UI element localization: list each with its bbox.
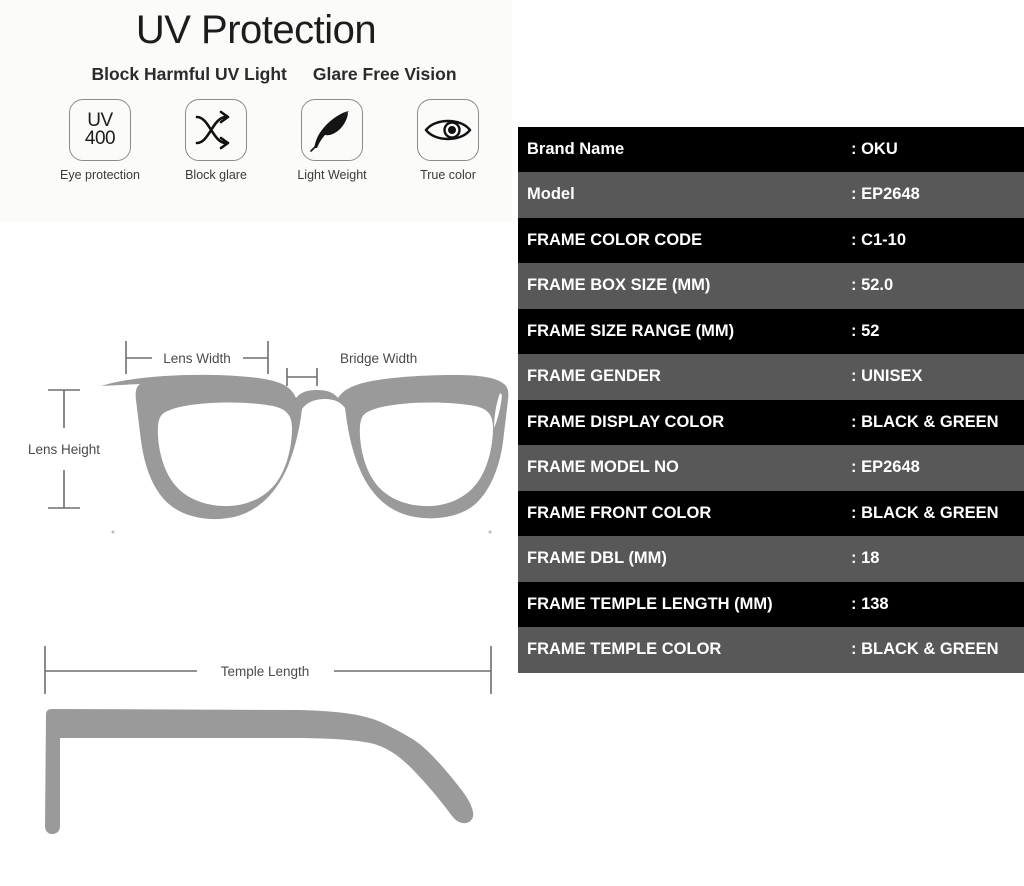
eye-icon <box>417 99 479 161</box>
spec-value: : 138 <box>851 582 1024 627</box>
spec-value-text: : OKU <box>851 140 1024 159</box>
spec-table-row: FRAME DBL (MM): 18 <box>518 536 1024 581</box>
spec-value-text: : 52.0 <box>851 276 1024 295</box>
spec-label: FRAME TEMPLE COLOR <box>518 627 851 672</box>
spec-label: FRAME GENDER <box>518 354 851 399</box>
spec-table-row: Model: EP2648 <box>518 172 1024 217</box>
spec-table-row: FRAME GENDER: UNISEX <box>518 354 1024 399</box>
eyeglass-frame-silhouette <box>101 375 508 519</box>
spec-value-text: : EP2648 <box>851 185 1024 204</box>
spec-label: FRAME SIZE RANGE (MM) <box>518 309 851 354</box>
spec-table-row: FRAME TEMPLE COLOR: BLACK & GREEN <box>518 627 1024 672</box>
uv-feature-label-eye-protection: Eye protection <box>60 168 140 182</box>
spec-value-text: : BLACK & GREEN <box>851 413 1024 432</box>
uv-subtitle-glare-free: Glare Free Vision <box>313 64 457 85</box>
uv400-icon-line2: 400 <box>85 130 115 148</box>
spec-value: : BLACK & GREEN <box>851 491 1024 536</box>
uv-subtitle-block-harmful: Block Harmful UV Light <box>91 64 286 85</box>
uv-feature-label-block-glare: Block glare <box>185 168 247 182</box>
spec-value-text: : BLACK & GREEN <box>851 640 1024 659</box>
lens-height-label: Lens Height <box>28 442 100 457</box>
uv-feature-label-light-weight: Light Weight <box>297 168 366 182</box>
product-illustration-panel: UV Protection Block Harmful UV Light Gla… <box>0 0 512 886</box>
block-glare-icon <box>185 99 247 161</box>
uv-subtitle-row: Block Harmful UV Light Glare Free Vision <box>0 64 512 85</box>
product-spec-table: Brand Name: OKUModel: EP2648FRAME COLOR … <box>518 127 1024 673</box>
spec-value: : 18 <box>851 536 1024 581</box>
spec-value: : 52 <box>851 309 1024 354</box>
crossing-arrows-glyph <box>193 110 239 150</box>
temple-length-label: Temple Length <box>221 664 310 679</box>
spec-value-text: : 52 <box>851 322 1024 341</box>
frame-temple-diagram: Temple Length <box>0 630 512 845</box>
spec-table-row: FRAME DISPLAY COLOR: BLACK & GREEN <box>518 400 1024 445</box>
spec-value: : EP2648 <box>851 172 1024 217</box>
spec-label: FRAME TEMPLE LENGTH (MM) <box>518 582 851 627</box>
spec-label: FRAME COLOR CODE <box>518 218 851 263</box>
spec-value-text: : EP2648 <box>851 458 1024 477</box>
spec-label: FRAME MODEL NO <box>518 445 851 490</box>
diagram-dot-right <box>489 531 492 534</box>
spec-table-body: Brand Name: OKUModel: EP2648FRAME COLOR … <box>518 127 1024 673</box>
temple-arm-silhouette <box>45 709 473 834</box>
bridge-width-label: Bridge Width <box>340 351 417 366</box>
uv-protection-block: UV Protection Block Harmful UV Light Gla… <box>0 0 512 222</box>
spec-value: : BLACK & GREEN <box>851 400 1024 445</box>
spec-table-row: FRAME TEMPLE LENGTH (MM): 138 <box>518 582 1024 627</box>
spec-value-text: : C1-10 <box>851 231 1024 250</box>
spec-table-row: FRAME COLOR CODE: C1-10 <box>518 218 1024 263</box>
eye-glyph <box>423 115 473 145</box>
spec-value: : 52.0 <box>851 263 1024 308</box>
uv-feature-block-glare: Block glare <box>175 99 257 182</box>
uv-feature-true-color: True color <box>407 99 489 182</box>
uv-protection-title: UV Protection <box>0 0 512 50</box>
spec-table-row: FRAME FRONT COLOR: BLACK & GREEN <box>518 491 1024 536</box>
spec-value: : UNISEX <box>851 354 1024 399</box>
feather-glyph <box>309 107 355 153</box>
diagram-dot-left <box>112 531 115 534</box>
spec-label: Model <box>518 172 851 217</box>
lens-width-label: Lens Width <box>163 351 231 366</box>
spec-value: : OKU <box>851 127 1024 172</box>
spec-label: FRAME BOX SIZE (MM) <box>518 263 851 308</box>
spec-value: : C1-10 <box>851 218 1024 263</box>
spec-value-text: : 18 <box>851 549 1024 568</box>
spec-value: : EP2648 <box>851 445 1024 490</box>
spec-value-text: : UNISEX <box>851 367 1024 386</box>
spec-table-row: FRAME SIZE RANGE (MM): 52 <box>518 309 1024 354</box>
spec-table-row: FRAME BOX SIZE (MM): 52.0 <box>518 263 1024 308</box>
spec-label: FRAME FRONT COLOR <box>518 491 851 536</box>
spec-table-row: Brand Name: OKU <box>518 127 1024 172</box>
uv-feature-label-true-color: True color <box>420 168 476 182</box>
feather-icon <box>301 99 363 161</box>
uv-feature-light-weight: Light Weight <box>291 99 373 182</box>
spec-label: Brand Name <box>518 127 851 172</box>
frame-front-diagram: Lens Width Bridge Width Lens Height <box>0 330 512 560</box>
spec-label: FRAME DBL (MM) <box>518 536 851 581</box>
spec-label: FRAME DISPLAY COLOR <box>518 400 851 445</box>
spec-value-text: : 138 <box>851 595 1024 614</box>
bridge-width-rule <box>287 368 317 386</box>
uv400-icon: UV 400 <box>69 99 131 161</box>
uv-feature-eye-protection: UV 400 Eye protection <box>59 99 141 182</box>
spec-value: : BLACK & GREEN <box>851 627 1024 672</box>
spec-table-row: FRAME MODEL NO: EP2648 <box>518 445 1024 490</box>
spec-value-text: : BLACK & GREEN <box>851 504 1024 523</box>
uv-feature-row: UV 400 Eye protection <box>0 99 512 182</box>
